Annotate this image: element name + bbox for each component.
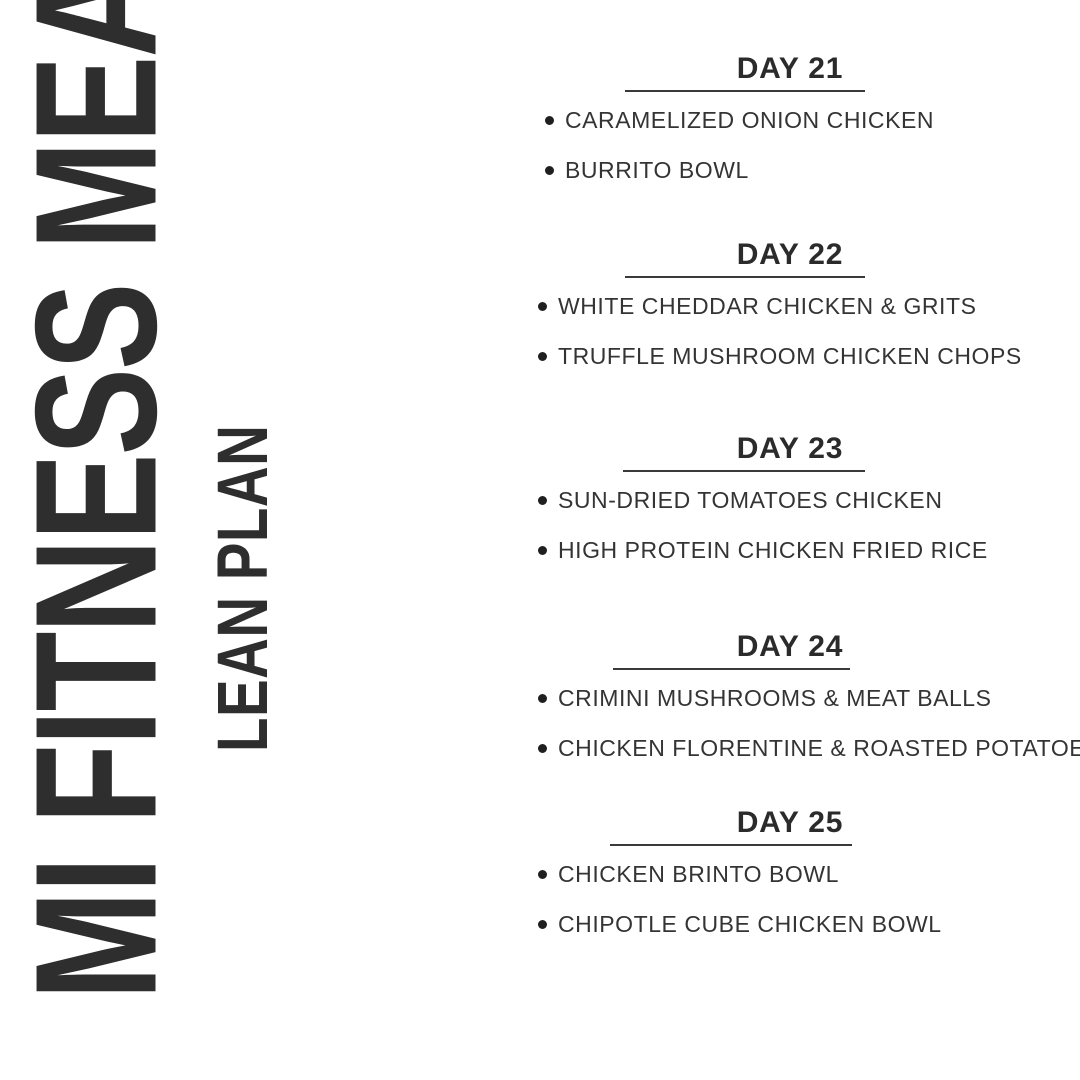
meal-list-item: CHICKEN FLORENTINE & ROASTED POTATOES bbox=[500, 734, 1080, 762]
meal-list: WHITE CHEDDAR CHICKEN & GRITSTRUFFLE MUS… bbox=[500, 292, 1080, 370]
day-block: DAY 23SUN-DRIED TOMATOES CHICKENHIGH PRO… bbox=[500, 432, 1080, 564]
meal-list: SUN-DRIED TOMATOES CHICKENHIGH PROTEIN C… bbox=[500, 486, 1080, 564]
day-heading: DAY 25 bbox=[500, 806, 1080, 840]
meal-name: CHIPOTLE CUBE CHICKEN BOWL bbox=[558, 910, 1080, 938]
meal-list-item: CRIMINI MUSHROOMS & MEAT BALLS bbox=[500, 684, 1080, 712]
day-block: DAY 22WHITE CHEDDAR CHICKEN & GRITSTRUFF… bbox=[500, 238, 1080, 370]
meal-list-item: BURRITO BOWL bbox=[500, 156, 1080, 184]
bullet-icon bbox=[538, 546, 547, 555]
day-divider bbox=[625, 276, 865, 278]
day-block: DAY 21CARAMELIZED ONION CHICKENBURRITO B… bbox=[500, 52, 1080, 184]
day-heading: DAY 23 bbox=[500, 432, 1080, 466]
meal-name: CHICKEN FLORENTINE & ROASTED POTATOES bbox=[558, 734, 1080, 762]
meal-list-item: SUN-DRIED TOMATOES CHICKEN bbox=[500, 486, 1080, 514]
meal-name: CARAMELIZED ONION CHICKEN bbox=[565, 106, 1080, 134]
meal-list: CHICKEN BRINTO BOWLCHIPOTLE CUBE CHICKEN… bbox=[500, 860, 1080, 938]
day-heading: DAY 24 bbox=[500, 630, 1080, 664]
meal-name: BURRITO BOWL bbox=[565, 156, 1080, 184]
meal-name: TRUFFLE MUSHROOM CHICKEN CHOPS bbox=[558, 342, 1080, 370]
day-divider bbox=[625, 90, 865, 92]
meal-name: CRIMINI MUSHROOMS & MEAT BALLS bbox=[558, 684, 1080, 712]
meal-list: CARAMELIZED ONION CHICKENBURRITO BOWL bbox=[500, 106, 1080, 184]
day-block: DAY 25CHICKEN BRINTO BOWLCHIPOTLE CUBE C… bbox=[500, 806, 1080, 938]
bullet-icon bbox=[538, 694, 547, 703]
meal-name: CHICKEN BRINTO BOWL bbox=[558, 860, 1080, 888]
day-divider bbox=[613, 668, 850, 670]
meal-list-item: WHITE CHEDDAR CHICKEN & GRITS bbox=[500, 292, 1080, 320]
meal-list-item: HIGH PROTEIN CHICKEN FRIED RICE bbox=[500, 536, 1080, 564]
bullet-icon bbox=[538, 352, 547, 361]
day-divider bbox=[610, 844, 852, 846]
meal-list-item: CHIPOTLE CUBE CHICKEN BOWL bbox=[500, 910, 1080, 938]
brand-subtitle-container: LEAN PLAN bbox=[212, 262, 274, 752]
brand-title-container: MI FITNESS MEAL bbox=[22, 25, 172, 1000]
meal-list-item: TRUFFLE MUSHROOM CHICKEN CHOPS bbox=[500, 342, 1080, 370]
meal-name: SUN-DRIED TOMATOES CHICKEN bbox=[558, 486, 1080, 514]
day-block: DAY 24CRIMINI MUSHROOMS & MEAT BALLSCHIC… bbox=[500, 630, 1080, 762]
bullet-icon bbox=[545, 116, 554, 125]
brand-title: MI FITNESS MEAL bbox=[0, 40, 195, 1000]
meal-name: WHITE CHEDDAR CHICKEN & GRITS bbox=[558, 292, 1080, 320]
bullet-icon bbox=[538, 744, 547, 753]
meal-plan-canvas: MI FITNESS MEAL LEAN PLAN DAY 21CARAMELI… bbox=[0, 0, 1080, 1080]
meal-list-item: CHICKEN BRINTO BOWL bbox=[500, 860, 1080, 888]
bullet-icon bbox=[545, 166, 554, 175]
day-heading: DAY 22 bbox=[500, 238, 1080, 272]
brand-subtitle: LEAN PLAN bbox=[204, 267, 282, 752]
bullet-icon bbox=[538, 302, 547, 311]
day-divider bbox=[623, 470, 865, 472]
menu-column: DAY 21CARAMELIZED ONION CHICKENBURRITO B… bbox=[500, 0, 1080, 1080]
bullet-icon bbox=[538, 870, 547, 879]
day-heading: DAY 21 bbox=[500, 52, 1080, 86]
meal-name: HIGH PROTEIN CHICKEN FRIED RICE bbox=[558, 536, 1080, 564]
meal-list: CRIMINI MUSHROOMS & MEAT BALLSCHICKEN FL… bbox=[500, 684, 1080, 762]
bullet-icon bbox=[538, 496, 547, 505]
meal-list-item: CARAMELIZED ONION CHICKEN bbox=[500, 106, 1080, 134]
bullet-icon bbox=[538, 920, 547, 929]
